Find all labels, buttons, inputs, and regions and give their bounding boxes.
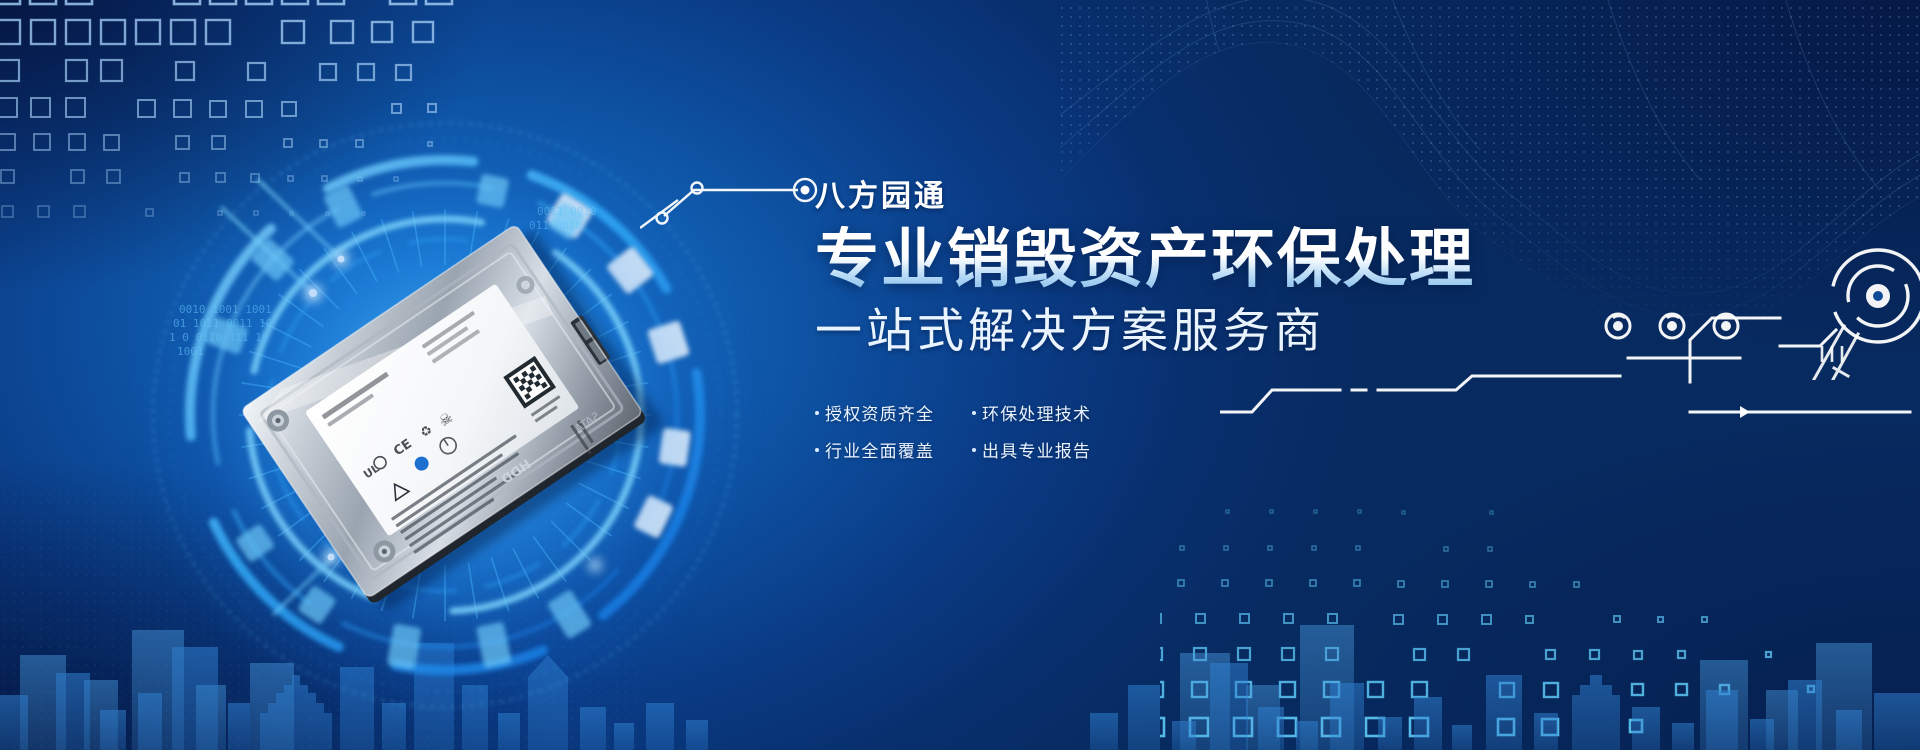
feature-item: 出具专业报告 bbox=[972, 437, 1135, 462]
circuit-pointer-icon bbox=[640, 160, 840, 240]
feature-label: 环保处理技术 bbox=[982, 400, 1091, 425]
bullet-dot-icon bbox=[972, 448, 976, 452]
feature-item: 行业全面覆盖 bbox=[815, 437, 950, 462]
subheadline-text: 一站式解决方案服务商 bbox=[815, 305, 1635, 357]
feature-label: 出具专业报告 bbox=[982, 437, 1091, 462]
bullet-dot-icon bbox=[815, 448, 819, 452]
page-title: 专业销毁资产环保处理 bbox=[815, 226, 1635, 293]
feature-label: 授权资质齐全 bbox=[825, 400, 934, 425]
banner-copy: 八方园通 专业销毁资产环保处理 一站式解决方案服务商 授权资质齐全 环保处理技术… bbox=[815, 182, 1635, 462]
bullet-dot-icon bbox=[972, 411, 976, 415]
feature-item: 环保处理技术 bbox=[972, 400, 1135, 425]
headline-text: 专业销毁资产环保处理 bbox=[815, 226, 1475, 293]
brand-eyebrow: 八方园通 bbox=[815, 182, 1635, 212]
bullet-dot-icon bbox=[815, 411, 819, 415]
promotional-banner: 0010 1001 1001 01 1011 0011 10 1 0 0110 … bbox=[0, 0, 1920, 750]
gear-node-icon bbox=[1800, 230, 1920, 380]
feature-item: 授权资质齐全 bbox=[815, 400, 950, 425]
feature-list: 授权资质齐全 环保处理技术 行业全面覆盖 出具专业报告 bbox=[815, 400, 1135, 462]
feature-label: 行业全面覆盖 bbox=[825, 437, 934, 462]
